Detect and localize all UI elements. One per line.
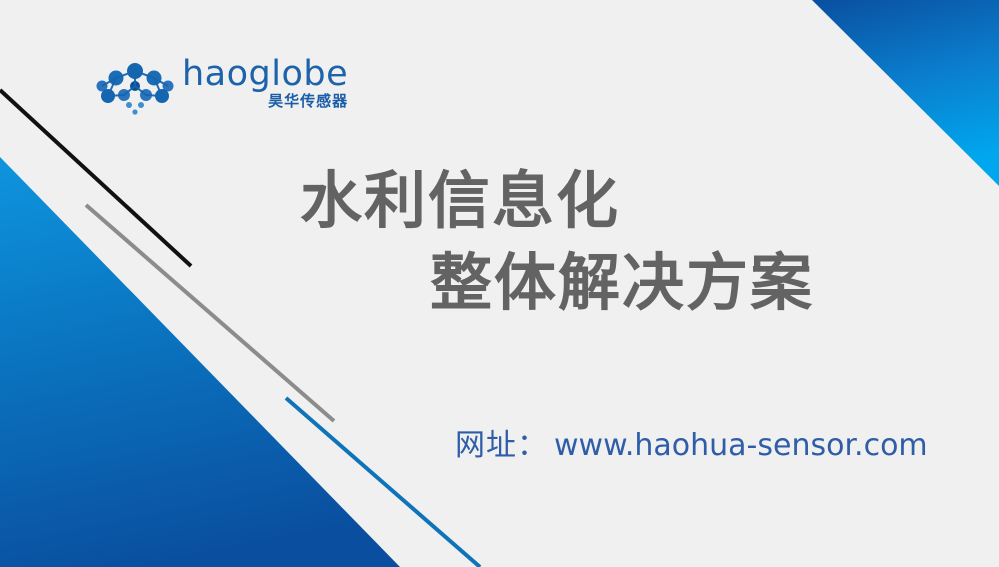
website-url[interactable]: www.haohua-sensor.com — [554, 428, 928, 463]
website-label: 网址： — [455, 420, 548, 464]
presentation-title-slide: haoglobe 昊华传感器 水利信息化 整体解决方案 网址： www.haoh… — [0, 0, 999, 567]
title-line-1: 水利信息化 — [300, 160, 900, 242]
blue-diagonal-line — [286, 398, 480, 567]
logo-text: haoglobe 昊华传感器 — [182, 57, 348, 109]
logo-wordmark: haoglobe — [182, 57, 348, 92]
top-right-blue-triangle — [812, 0, 999, 186]
title-line-2: 整体解决方案 — [430, 242, 900, 324]
website-line: 网址： www.haohua-sensor.com — [455, 420, 928, 464]
page-title: 水利信息化 整体解决方案 — [300, 160, 900, 324]
gray-diagonal-line — [86, 205, 334, 421]
network-nodes-logo-icon — [96, 62, 174, 118]
company-logo: haoglobe 昊华传感器 — [96, 57, 326, 125]
logo-subtitle-chinese: 昊华传感器 — [268, 94, 348, 109]
